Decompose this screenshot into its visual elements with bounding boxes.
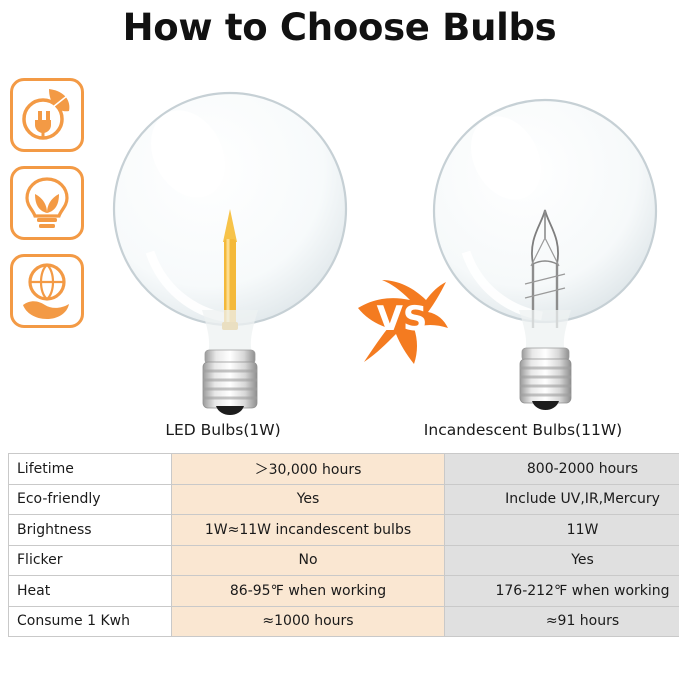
- row-incandescent-value: 11W: [445, 515, 679, 546]
- row-led-value: ≈1000 hours: [172, 606, 445, 637]
- led-bulb-caption: LED Bulbs(1W): [108, 421, 338, 439]
- global-earth-hand-icon: [10, 254, 84, 328]
- row-incandescent-value: ≈91 hours: [445, 606, 679, 637]
- vs-label: VS: [377, 299, 428, 339]
- row-led-value: 86-95℉ when working: [172, 576, 445, 607]
- table-row: Flicker No Yes: [9, 545, 679, 576]
- led-bulb-illustration: [110, 74, 350, 419]
- row-label: Consume 1 Kwh: [9, 606, 172, 637]
- row-label: Flicker: [9, 545, 172, 576]
- table-row: Heat 86-95℉ when working 176-212℉ when w…: [9, 576, 679, 607]
- row-incandescent-value: 800-2000 hours: [445, 454, 679, 485]
- row-incandescent-value: Yes: [445, 545, 679, 576]
- row-led-value: ＞30,000 hours: [172, 454, 445, 485]
- row-led-value: Yes: [172, 484, 445, 515]
- incandescent-bulb-caption: Incandescent Bulbs(11W): [378, 421, 668, 439]
- row-led-value: No: [172, 545, 445, 576]
- table-row: Eco-friendly Yes Include UV,IR,Mercury: [9, 484, 679, 515]
- hero-comparison-image: VS LED Bulbs(1W) Incandescent Bulbs(11W): [0, 50, 679, 445]
- comparison-table: Lifetime ＞30,000 hours 800-2000 hours Ec…: [8, 453, 679, 637]
- benefit-icon-column: [10, 78, 88, 342]
- table-row: Lifetime ＞30,000 hours 800-2000 hours: [9, 454, 679, 485]
- vs-badge-icon: VS: [352, 268, 452, 378]
- row-incandescent-value: Include UV,IR,Mercury: [445, 484, 679, 515]
- energy-saving-plug-leaf-icon: [10, 78, 84, 152]
- eco-bulb-leaf-icon: [10, 166, 84, 240]
- row-label: Lifetime: [9, 454, 172, 485]
- table-row: Consume 1 Kwh ≈1000 hours ≈91 hours: [9, 606, 679, 637]
- row-incandescent-value: 176-212℉ when working: [445, 576, 679, 607]
- incandescent-bulb-illustration: [432, 88, 662, 420]
- row-led-value: 1W≈11W incandescent bulbs: [172, 515, 445, 546]
- page-title: How to Choose Bulbs: [0, 6, 679, 50]
- row-label: Eco-friendly: [9, 484, 172, 515]
- row-label: Brightness: [9, 515, 172, 546]
- table-row: Brightness 1W≈11W incandescent bulbs 11W: [9, 515, 679, 546]
- row-label: Heat: [9, 576, 172, 607]
